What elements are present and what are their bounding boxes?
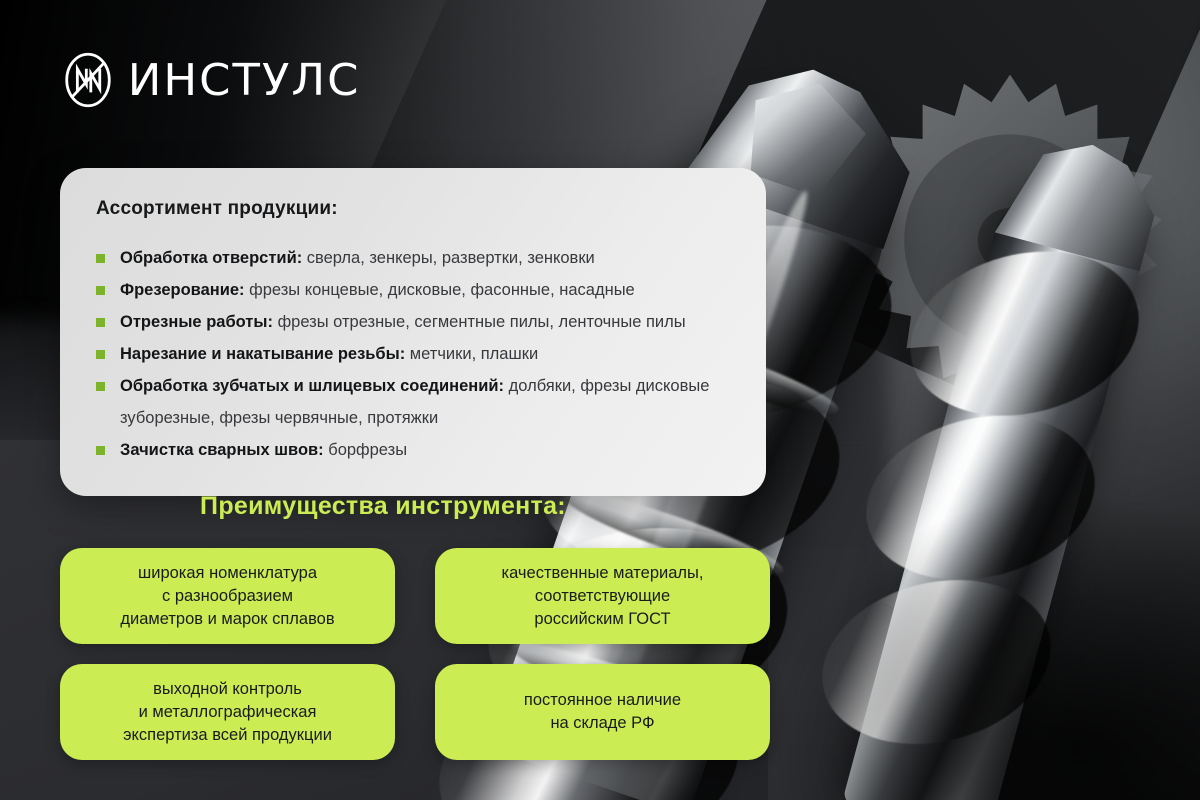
advantage-card-line: качественные материалы,	[502, 562, 704, 585]
assortment-item-category: Отрезные работы:	[120, 313, 273, 331]
assortment-list-item: Обработка отверстий: сверла, зенкеры, ра…	[96, 242, 730, 274]
advantage-card[interactable]: качественные материалы,соответствующиеро…	[435, 548, 770, 644]
bullet-square-icon	[96, 446, 105, 455]
advantage-card-line: диаметров и марок сплавов	[120, 608, 334, 631]
assortment-list-item: Зачистка сварных швов: борфрезы	[96, 434, 730, 466]
advantage-card-line: с разнообразием	[120, 585, 334, 608]
bullet-square-icon	[96, 382, 105, 391]
advantage-card-text: качественные материалы,соответствующиеро…	[502, 562, 704, 631]
advantage-card-text: постоянное наличиена складе РФ	[524, 689, 681, 735]
brand-logo[interactable]: ИНСТУЛС	[60, 52, 358, 108]
assortment-item-category: Обработка отверстий:	[120, 249, 302, 267]
assortment-list-item: Обработка зубчатых и шлицевых соединений…	[96, 370, 730, 434]
bullet-square-icon	[96, 318, 105, 327]
advantage-card-line: российским ГОСТ	[502, 608, 704, 631]
bullet-square-icon	[96, 286, 105, 295]
advantages-title: Преимущества инструмента:	[0, 492, 766, 521]
advantage-card-line: широкая номенклатура	[120, 562, 334, 585]
assortment-title: Ассортимент продукции:	[96, 198, 730, 220]
advantage-card-line: постоянное наличие	[524, 689, 681, 712]
assortment-item-category: Фрезерование:	[120, 281, 245, 299]
assortment-item-details: метчики, плашки	[405, 345, 538, 363]
advantage-card-line: соответствующие	[502, 585, 704, 608]
assortment-list: Обработка отверстий: сверла, зенкеры, ра…	[96, 242, 730, 466]
advantage-card-line: на складе РФ	[524, 712, 681, 735]
advantage-card[interactable]: постоянное наличиена складе РФ	[435, 664, 770, 760]
bullet-square-icon	[96, 350, 105, 359]
bullet-square-icon	[96, 254, 105, 263]
advantage-card[interactable]: выходной контрольи металлографическаяэкс…	[60, 664, 395, 760]
assortment-item-category: Нарезание и накатывание резьбы:	[120, 345, 405, 363]
advantage-card-line: экспертиза всей продукции	[123, 724, 332, 747]
assortment-item-details: сверла, зенкеры, развертки, зенковки	[302, 249, 595, 267]
advantage-card-line: и металлографическая	[123, 701, 332, 724]
assortment-item-details: фрезы концевые, дисковые, фасонные, наса…	[245, 281, 635, 299]
assortment-item-details: фрезы отрезные, сегментные пилы, ленточн…	[273, 313, 686, 331]
advantage-card-text: выходной контрольи металлографическаяэкс…	[123, 678, 332, 747]
advantage-card[interactable]: широкая номенклатурас разнообразиемдиаме…	[60, 548, 395, 644]
assortment-list-item: Фрезерование: фрезы концевые, дисковые, …	[96, 274, 730, 306]
advantages-grid: широкая номенклатурас разнообразиемдиаме…	[60, 548, 770, 760]
assortment-item-category: Обработка зубчатых и шлицевых соединений…	[120, 377, 504, 395]
assortment-list-item: Отрезные работы: фрезы отрезные, сегмент…	[96, 306, 730, 338]
assortment-item-category: Зачистка сварных швов:	[120, 441, 324, 459]
instools-monogram-icon	[60, 52, 116, 108]
advantage-card-line: выходной контроль	[123, 678, 332, 701]
advantage-card-text: широкая номенклатурас разнообразиемдиаме…	[120, 562, 334, 631]
assortment-list-item: Нарезание и накатывание резьбы: метчики,…	[96, 338, 730, 370]
assortment-card: Ассортимент продукции: Обработка отверст…	[60, 168, 766, 496]
assortment-item-details: борфрезы	[324, 441, 407, 459]
brand-name: ИНСТУЛС	[128, 55, 361, 106]
